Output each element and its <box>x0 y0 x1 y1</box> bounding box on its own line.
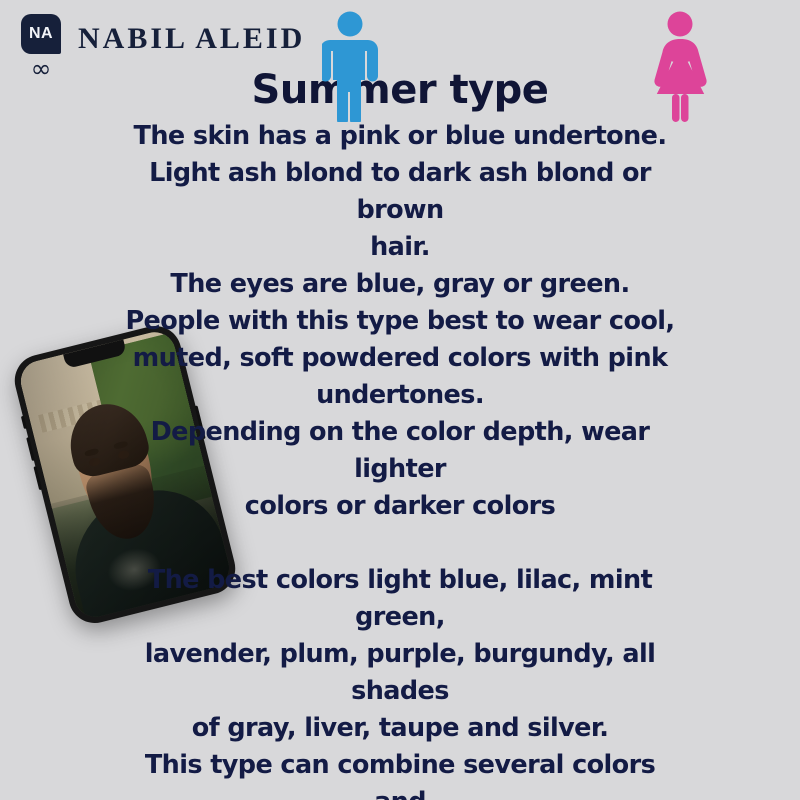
body-line: hair. <box>120 229 680 266</box>
female-person-icon <box>648 10 712 122</box>
male-person-icon <box>322 10 378 122</box>
body-line: undertones. <box>120 377 680 414</box>
body-line: People with this type best to wear cool, <box>120 303 680 340</box>
body-line: The eyes are blue, gray or green. <box>120 266 680 303</box>
body-line: muted, soft powdered colors with pink <box>120 340 680 377</box>
body-line: This type can combine several colors and <box>120 747 680 800</box>
paragraph-spacer <box>120 525 680 562</box>
body-line: of gray, liver, taupe and silver. <box>120 710 680 747</box>
title-row: Summer type <box>0 4 800 122</box>
body-line: Depending on the color depth, wear light… <box>120 414 680 488</box>
body-copy: The skin has a pink or blue undertone. L… <box>120 118 680 800</box>
body-line: Light ash blond to dark ash blond or bro… <box>120 155 680 229</box>
phone-volume-up-button <box>26 437 35 461</box>
paragraph-features: The skin has a pink or blue undertone. L… <box>120 118 680 525</box>
poster-canvas: NA ∞ NABIL ALEID Summer type <box>0 0 800 800</box>
body-line: colors or darker colors <box>120 488 680 525</box>
body-line: lavender, plum, purple, burgundy, all sh… <box>120 636 680 710</box>
phone-volume-down-button <box>33 466 42 490</box>
paragraph-best-colors: The best colors light blue, lilac, mint … <box>120 562 680 800</box>
phone-mute-switch <box>21 416 27 429</box>
body-line: The skin has a pink or blue undertone. <box>120 118 680 155</box>
body-line: The best colors light blue, lilac, mint … <box>120 562 680 636</box>
